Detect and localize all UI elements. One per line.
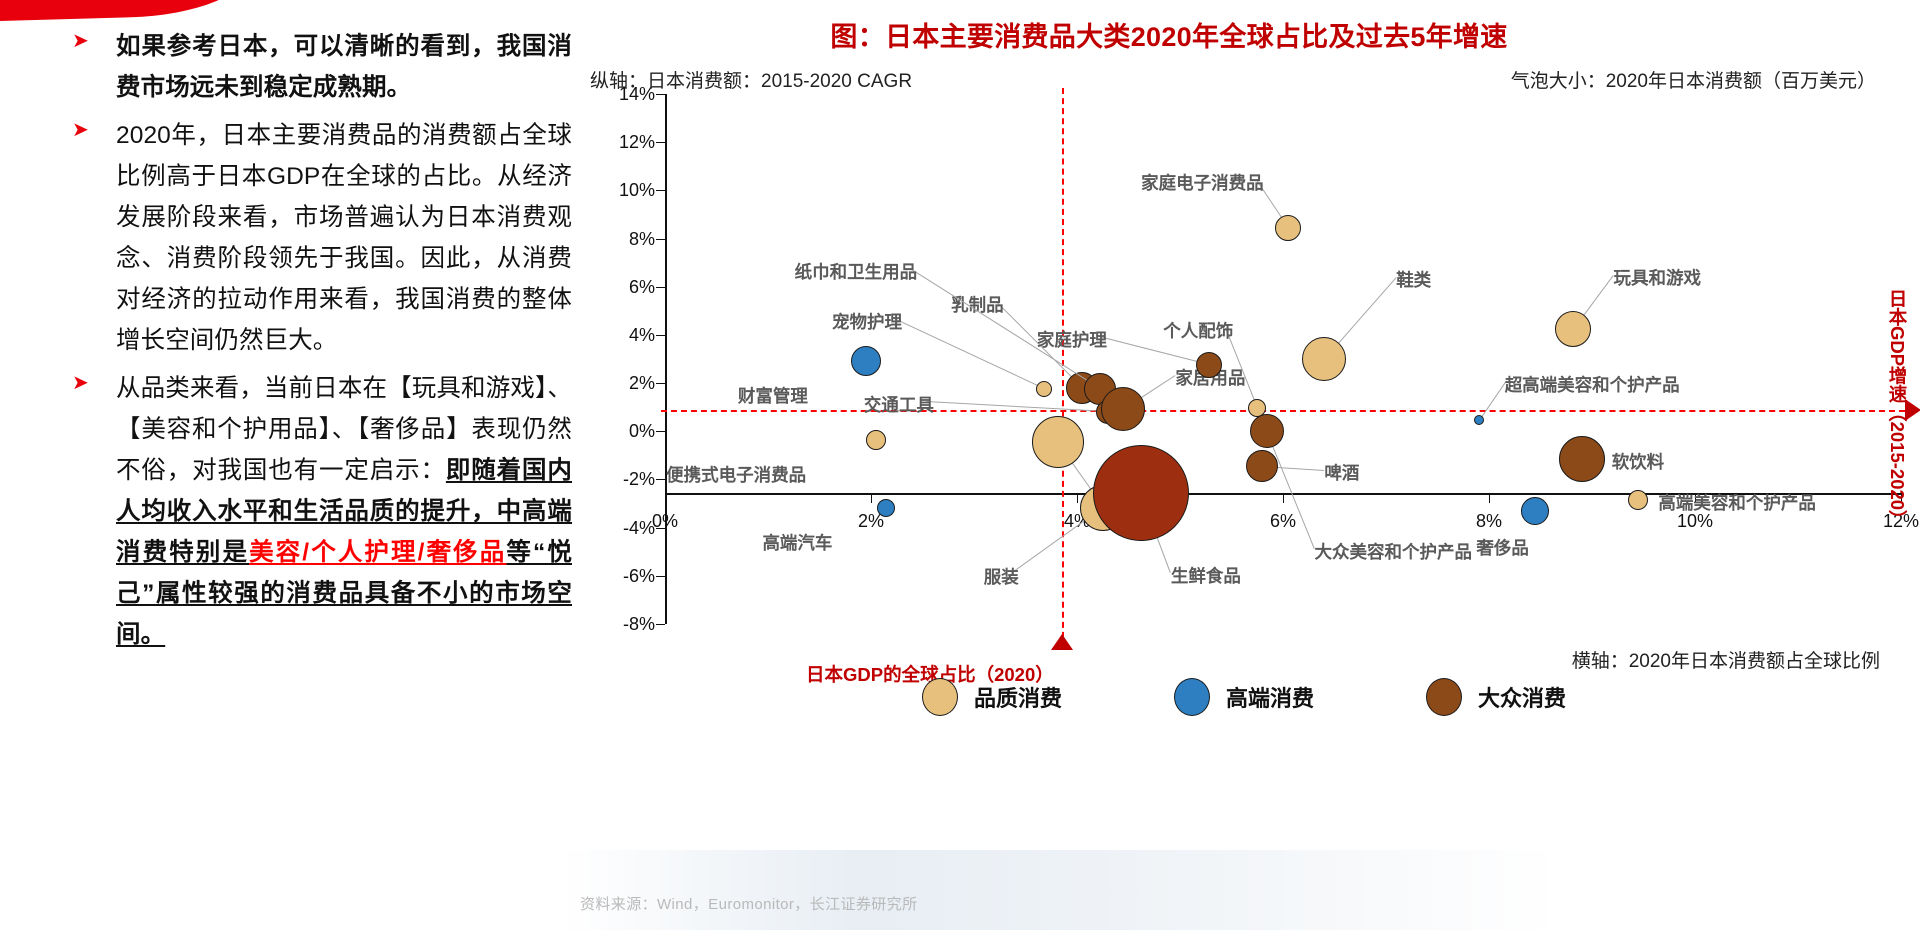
chart-title: 图：日本主要消费品大类2020年全球占比及过去5年增速 — [584, 15, 1754, 54]
left-text-panel: ➤如果参考日本，可以清晰的看到，我国消费市场远未到稳定成熟期。➤2020年，日本… — [72, 26, 572, 662]
bubble-label: 软饮料 — [1612, 449, 1665, 474]
y-tick — [656, 142, 665, 143]
y-tick-label: -2% — [589, 469, 655, 490]
chart-legend: 品质消费高端消费大众消费 — [694, 678, 1794, 716]
x-tick — [665, 493, 666, 503]
y-tick-label: 10% — [589, 180, 655, 201]
y-tick-label: 0% — [589, 421, 655, 442]
source-note: 资料来源：Wind，Euromonitor，长江证券研究所 — [580, 893, 917, 914]
y-tick — [656, 335, 665, 336]
bubble-label: 大众美容和个护产品 — [1315, 539, 1473, 564]
legend-label: 高端消费 — [1226, 681, 1314, 713]
bubble-高端汽车[interactable] — [877, 499, 895, 517]
legend-swatch — [922, 678, 958, 716]
y-tick-label: 8% — [589, 229, 655, 250]
y-tick — [656, 190, 665, 191]
x-tick — [1077, 493, 1078, 503]
gdp-growth-label: 日本GDP增速（2015-2020） — [1884, 289, 1910, 529]
bubble-label: 纸巾和卫生用品 — [795, 259, 918, 284]
bubble-label: 生鲜食品 — [1171, 563, 1241, 588]
slide-root: ➤如果参考日本，可以清晰的看到，我国消费市场远未到稳定成熟期。➤2020年，日本… — [0, 0, 1920, 930]
bullet-item: ➤2020年，日本主要消费品的消费额占全球比例高于日本GDP在全球的占比。从经济… — [72, 115, 572, 361]
bubble-家庭电子消费品[interactable] — [1275, 215, 1301, 241]
plot-area: 14%12%10%8%6%4%2%0%-2%-4%-6%-8%0%2%4%6%8… — [665, 94, 1901, 624]
bubble-便携式电子消费品[interactable] — [866, 430, 886, 450]
bubble-label: 宠物护理 — [832, 309, 902, 334]
bubble-label: 家庭护理 — [1037, 327, 1107, 352]
bubble-高端美容和个护产品[interactable] — [1628, 490, 1648, 510]
bubble-超高端美容和个护产品[interactable] — [1474, 415, 1484, 425]
bubble-家庭护理[interactable] — [1196, 352, 1222, 378]
bubble-大众美容和个护产品[interactable] — [1250, 414, 1284, 448]
bullet-arrow-icon: ➤ — [72, 32, 94, 50]
bullet-item: ➤如果参考日本，可以清晰的看到，我国消费市场远未到稳定成熟期。 — [72, 26, 572, 108]
bubble-软饮料[interactable] — [1559, 436, 1605, 482]
y-tick — [656, 94, 665, 95]
legend-swatch — [1174, 678, 1210, 716]
bullet-text: 2020年，日本主要消费品的消费额占全球比例高于日本GDP在全球的占比。从经济发… — [116, 115, 572, 361]
leader-line — [1479, 382, 1506, 421]
bubble-家居用品[interactable] — [1101, 387, 1145, 431]
bubble-烟草[interactable] — [1032, 416, 1084, 468]
bullet-text: 如果参考日本，可以清晰的看到，我国消费市场远未到稳定成熟期。 — [116, 26, 572, 108]
legend-item[interactable]: 品质消费 — [922, 678, 1062, 716]
y-tick-label: 2% — [589, 373, 655, 394]
bubble-label: 财富管理 — [738, 383, 808, 408]
gdp-growth-reference-line — [661, 410, 1905, 412]
text-segment: 2020年，日本主要消费品的消费额占全球比例高于日本GDP在全球的占比。从经济发… — [116, 122, 572, 354]
chart-panel: 图：日本主要消费品大类2020年全球占比及过去5年增速 纵轴：日本消费额：201… — [584, 6, 1920, 930]
x-tick — [871, 493, 872, 503]
text-segment: 如果参考日本，可以清晰的看到，我国消费市场远未到稳定成熟期。 — [116, 33, 572, 101]
bubble-label: 家庭电子消费品 — [1141, 170, 1264, 195]
y-axis-line — [665, 94, 667, 624]
bubble-label: 鞋类 — [1396, 267, 1431, 292]
legend-label: 品质消费 — [974, 681, 1062, 713]
bullet-text: 从品类来看，当前日本在【玩具和游戏】、【美容和个护用品】、【奢侈品】表现仍然不俗… — [116, 368, 572, 655]
legend-item[interactable]: 高端消费 — [1174, 678, 1314, 716]
y-tick-label: -4% — [589, 518, 655, 539]
y-tick-label: -6% — [589, 566, 655, 587]
bubble-鞋类[interactable] — [1302, 337, 1346, 381]
x-tick — [1283, 493, 1284, 503]
bubble-宠物护理[interactable] — [1036, 381, 1052, 397]
y-tick — [656, 239, 665, 240]
bullet-arrow-icon: ➤ — [72, 121, 94, 139]
x-tick — [1489, 493, 1490, 503]
y-tick-label: 14% — [589, 84, 655, 105]
y-tick — [656, 576, 665, 577]
text-segment: 美容/个人护理/奢侈品 — [249, 539, 506, 566]
bubble-label: 高端美容和个护产品 — [1658, 490, 1816, 515]
bullet-arrow-icon: ➤ — [72, 374, 94, 392]
bubble-label: 个人配饰 — [1163, 318, 1233, 343]
bubble-财富管理[interactable] — [851, 346, 881, 376]
bubble-label: 交通工具 — [864, 392, 934, 417]
bubble-label: 超高端美容和个护产品 — [1505, 372, 1680, 397]
y-tick — [656, 383, 665, 384]
bubble-label: 高端汽车 — [762, 530, 832, 555]
bubble-size-note: 气泡大小：2020年日本消费额（百万美元） — [1511, 66, 1876, 93]
y-tick-label: 12% — [589, 132, 655, 153]
bubble-玩具和游戏[interactable] — [1555, 311, 1591, 347]
bubble-生鲜食品[interactable] — [1093, 445, 1189, 541]
x-tick-label: 0% — [652, 511, 678, 532]
y-tick — [656, 287, 665, 288]
y-tick — [656, 479, 665, 480]
bubble-label: 乳制品 — [951, 292, 1004, 317]
bubble-label: 啤酒 — [1324, 460, 1359, 485]
y-tick — [656, 431, 665, 432]
y-tick — [656, 624, 665, 625]
y-tick-label: 6% — [589, 277, 655, 298]
x-axis-note: 横轴：2020年日本消费额占全球比例 — [1572, 646, 1880, 673]
x-tick-label: 6% — [1270, 511, 1296, 532]
bullet-item: ➤从品类来看，当前日本在【玩具和游戏】、【美容和个护用品】、【奢侈品】表现仍然不… — [72, 368, 572, 655]
bubble-label: 便携式电子消费品 — [666, 462, 806, 487]
gdp-share-marker-icon — [1051, 634, 1073, 650]
y-tick-label: -8% — [589, 614, 655, 635]
bubble-奢侈品[interactable] — [1521, 497, 1549, 525]
bubble-label: 服装 — [984, 564, 1019, 589]
legend-item[interactable]: 大众消费 — [1426, 678, 1566, 716]
legend-label: 大众消费 — [1478, 681, 1566, 713]
bubble-label: 奢侈品 — [1476, 535, 1529, 560]
bubble-啤酒[interactable] — [1246, 450, 1278, 482]
y-tick-label: 4% — [589, 325, 655, 346]
legend-swatch — [1426, 678, 1462, 716]
bubble-label: 玩具和游戏 — [1613, 265, 1701, 290]
x-tick-label: 8% — [1476, 511, 1502, 532]
